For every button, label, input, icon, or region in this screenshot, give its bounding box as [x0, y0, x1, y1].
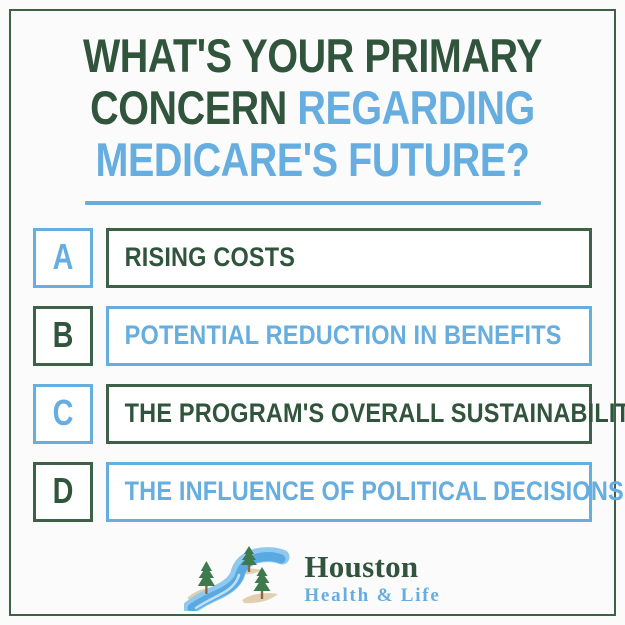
- option-text-box-b[interactable]: POTENTIAL REDUCTION IN BENEFITS: [106, 306, 592, 366]
- option-text-box-c[interactable]: THE PROGRAM'S OVERALL SUSTAINABILITY: [106, 384, 592, 444]
- option-text-b: POTENTIAL REDUCTION IN BENEFITS: [109, 322, 562, 349]
- answer-option-b[interactable]: B POTENTIAL REDUCTION IN BENEFITS: [0, 306, 625, 366]
- option-text-box-d[interactable]: THE INFLUENCE OF POLITICAL DECISIONS ON …: [106, 462, 592, 522]
- title-line-2-green: CONCERN: [90, 81, 297, 134]
- brand-name: Houston: [304, 551, 440, 582]
- river-and-trees-logo-icon: [184, 545, 296, 611]
- answer-option-d[interactable]: D THE INFLUENCE OF POLITICAL DECISIONS O…: [0, 462, 625, 522]
- title-divider-rule: [85, 201, 541, 205]
- page-title: WHAT'S YOUR PRIMARY CONCERN REGARDING ME…: [0, 30, 625, 186]
- option-text-c: THE PROGRAM'S OVERALL SUSTAINABILITY: [109, 400, 625, 427]
- title-line-2-blue: REGARDING: [297, 81, 534, 134]
- option-letter-d: D: [53, 473, 74, 509]
- poster-canvas: WHAT'S YOUR PRIMARY CONCERN REGARDING ME…: [0, 0, 625, 625]
- title-line-1: WHAT'S YOUR PRIMARY: [50, 30, 575, 82]
- brand-wordmark: Houston Health & Life: [304, 551, 440, 605]
- option-letter-box-a[interactable]: A: [33, 228, 93, 288]
- brand-tagline: Health & Life: [304, 586, 440, 605]
- answer-option-list: A RISING COSTS B POTENTIAL REDUCTION IN …: [0, 228, 625, 540]
- title-line-3: MEDICARE'S FUTURE?: [50, 134, 575, 186]
- option-text-d: THE INFLUENCE OF POLITICAL DECISIONS ON …: [109, 478, 625, 505]
- brand-logo: Houston Health & Life: [0, 545, 625, 611]
- answer-option-a[interactable]: A RISING COSTS: [0, 228, 625, 288]
- title-line-2: CONCERN REGARDING: [50, 82, 575, 134]
- option-letter-box-d[interactable]: D: [33, 462, 93, 522]
- option-text-a: RISING COSTS: [109, 244, 295, 271]
- option-letter-c: C: [53, 395, 74, 431]
- option-letter-box-b[interactable]: B: [33, 306, 93, 366]
- answer-option-c[interactable]: C THE PROGRAM'S OVERALL SUSTAINABILITY: [0, 384, 625, 444]
- option-letter-a: A: [53, 239, 74, 275]
- option-text-box-a[interactable]: RISING COSTS: [106, 228, 592, 288]
- option-letter-box-c[interactable]: C: [33, 384, 93, 444]
- option-letter-b: B: [53, 317, 74, 353]
